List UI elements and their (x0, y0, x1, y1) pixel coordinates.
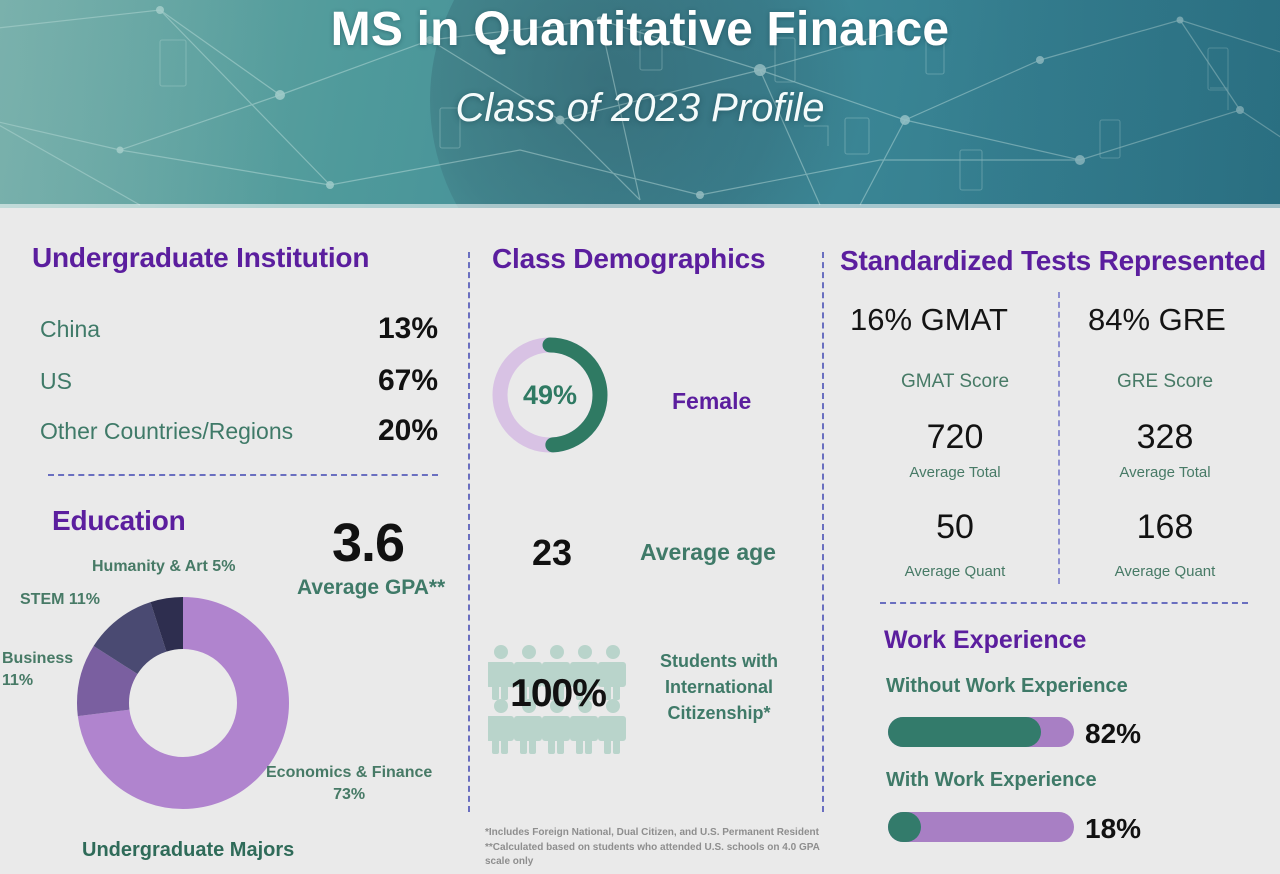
donut-label-stem: STEM 11% (20, 591, 100, 609)
gre-score-label: GRE Score (1062, 371, 1268, 393)
class-demographics-heading: Class Demographics (492, 243, 765, 275)
donut-label-economics-line2: 73% (333, 786, 365, 803)
divider-institution-education (48, 474, 438, 476)
gmat-average-quant: 50 (852, 508, 1058, 547)
gmat-score-label: GMAT Score (852, 371, 1058, 393)
work-experience-heading: Work Experience (884, 626, 1086, 655)
average-gpa-value: 3.6 (332, 512, 404, 574)
undergraduate-institution-heading: Undergraduate Institution (32, 242, 369, 274)
gre-average-quant-caption: Average Quant (1062, 563, 1268, 580)
gre-average-quant: 168 (1062, 508, 1268, 547)
institution-row-us: US 67% (40, 368, 438, 402)
institution-value: 20% (378, 414, 438, 448)
female-percentage-value: 49% (488, 380, 612, 411)
donut-label-business: Business 11% (2, 648, 73, 691)
with-work-experience-label: With Work Experience (886, 769, 1097, 792)
infographic-page: MS in Quantitative Finance Class of 2023… (0, 0, 1280, 874)
footnote-line-2: **Calculated based on students who atten… (485, 842, 820, 853)
with-work-experience-value: 18% (1085, 813, 1141, 845)
international-percentage-value: 100% (478, 672, 638, 716)
without-work-experience-value: 82% (1085, 718, 1141, 750)
donut-label-economics: Economics & Finance 73% (266, 762, 432, 805)
institution-label: US (40, 368, 72, 395)
institution-label: China (40, 316, 100, 343)
international-citizenship-label: Students with International Citizenship* (624, 648, 814, 726)
divider-tests-work (880, 602, 1248, 604)
gre-average-total-caption: Average Total (1062, 464, 1268, 481)
without-work-experience-bar (888, 717, 1074, 747)
gmat-average-total: 720 (852, 418, 1058, 457)
divider-middle-right (822, 252, 824, 812)
institution-row-china: China 13% (40, 316, 438, 350)
without-work-experience-bar-fill (888, 717, 1041, 747)
institution-row-other: Other Countries/Regions 20% (40, 418, 438, 452)
donut-label-economics-line1: Economics & Finance (266, 764, 432, 781)
with-work-experience-bar-fill (888, 812, 921, 842)
education-heading: Education (52, 505, 186, 537)
standardized-tests-heading: Standardized Tests Represented (840, 245, 1266, 277)
gmat-average-total-caption: Average Total (852, 464, 1058, 481)
without-work-experience-label: Without Work Experience (886, 675, 1128, 698)
donut-label-humanity: Humanity & Art 5% (92, 558, 235, 576)
header-bottom-rule (0, 204, 1280, 208)
female-label: Female (672, 388, 751, 415)
gre-share: 84% GRE (1088, 302, 1226, 338)
gre-average-total: 328 (1062, 418, 1268, 457)
footnotes: *Includes Foreign National, Dual Citizen… (485, 826, 825, 870)
footnote-line-3: scale only (485, 856, 533, 867)
institution-value: 13% (378, 312, 438, 346)
undergraduate-majors-caption: Undergraduate Majors (82, 839, 294, 862)
page-header: MS in Quantitative Finance Class of 2023… (0, 0, 1280, 208)
gmat-share: 16% GMAT (850, 302, 1008, 338)
average-age-label: Average age (640, 539, 776, 566)
undergraduate-majors-donut (68, 588, 298, 818)
institution-value: 67% (378, 364, 438, 398)
institution-label: Other Countries/Regions (40, 418, 293, 445)
divider-left-middle (468, 252, 470, 812)
gmat-average-quant-caption: Average Quant (852, 563, 1058, 580)
average-age-value: 23 (532, 532, 572, 574)
donut-label-business-line1: Business (2, 650, 73, 667)
divider-gmat-gre (1058, 292, 1060, 584)
page-title: MS in Quantitative Finance (0, 2, 1280, 57)
donut-label-business-line2: 11% (2, 672, 33, 689)
page-subtitle: Class of 2023 Profile (0, 86, 1280, 131)
average-gpa-label: Average GPA** (297, 576, 445, 600)
with-work-experience-bar (888, 812, 1074, 842)
footnote-line-1: *Includes Foreign National, Dual Citizen… (485, 827, 819, 838)
